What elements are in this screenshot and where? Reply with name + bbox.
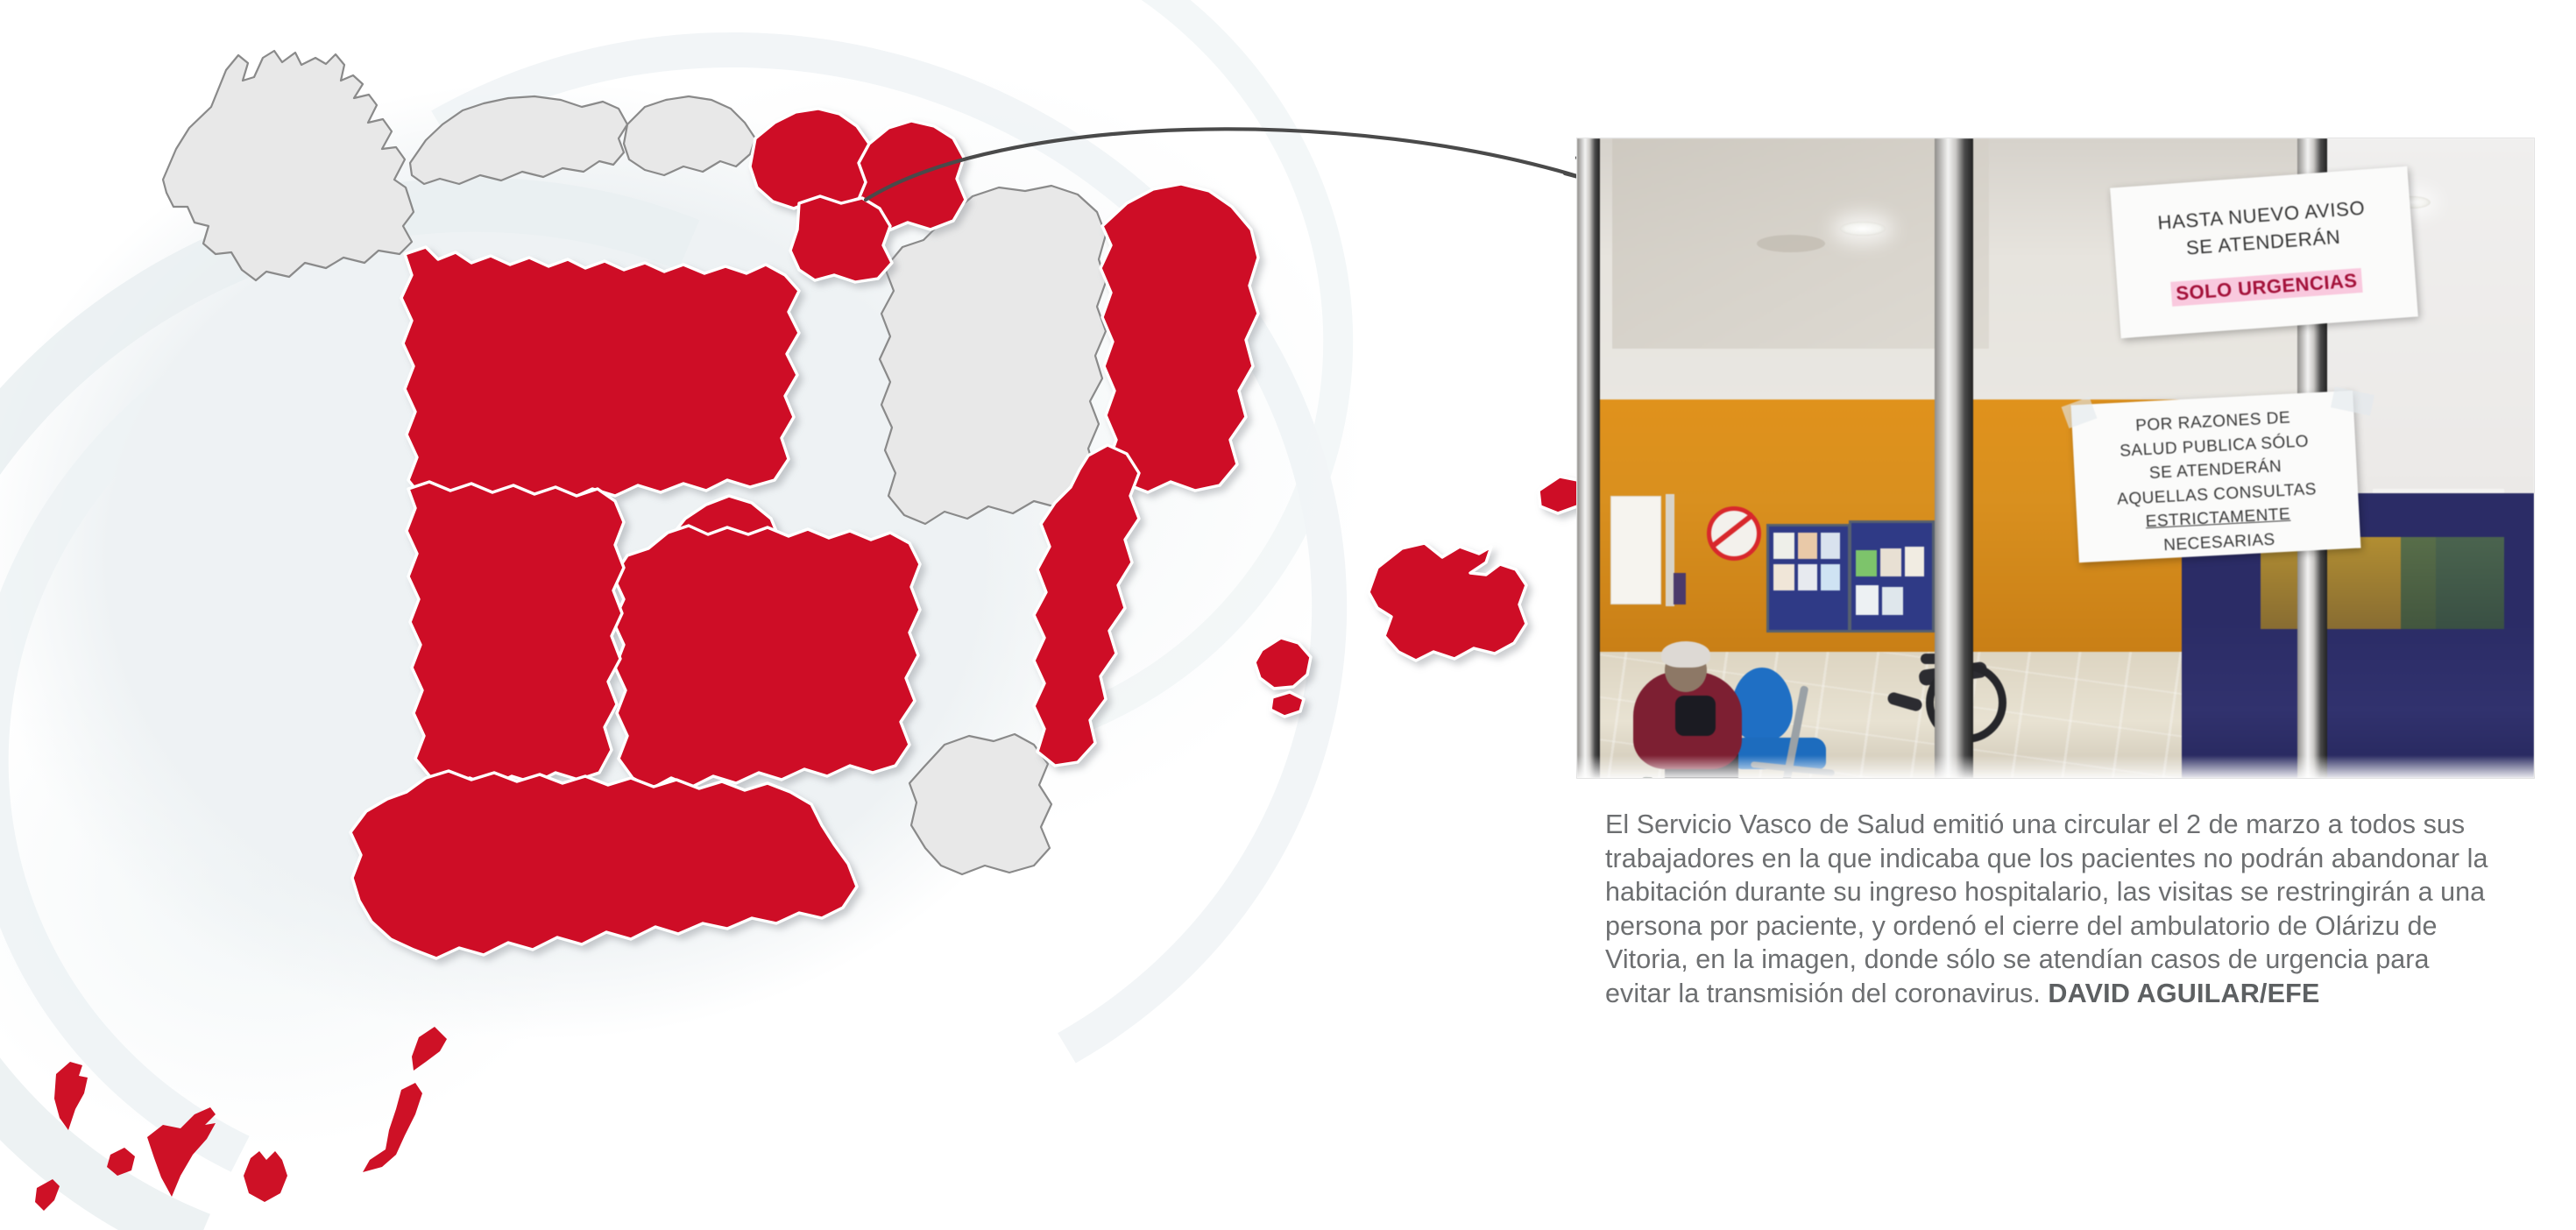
region-pais-vasco[interactable] [750, 109, 873, 209]
leaflet [1773, 564, 1794, 590]
photo-caption: El Servicio Vasco de Salud emitió una ci… [1605, 808, 2490, 1010]
island-mallorca[interactable] [1369, 543, 1526, 661]
sign-por-razones-de-salud-publica: POR RAZONES DE SALUD PUBLICA SÓLO SE ATE… [2071, 391, 2361, 563]
no-smoking-icon [1707, 506, 1761, 561]
region-extremadura[interactable] [407, 482, 624, 788]
island-fuerteventura[interactable] [363, 1083, 422, 1172]
ceiling-light-icon [1840, 222, 1886, 236]
sign1-highlight: SOLO URGENCIAS [2170, 268, 2362, 307]
infographic-page: HASTA NUEVO AVISO SE ATENDERÁN SOLO URGE… [0, 0, 2576, 1230]
region-galicia[interactable] [163, 51, 414, 280]
arrow-curve [866, 129, 1577, 200]
photo-scene: HASTA NUEVO AVISO SE ATENDERÁN SOLO URGE… [1577, 138, 2534, 778]
island-el-hierro[interactable] [35, 1179, 60, 1211]
leaflet [1856, 585, 1879, 615]
caption-text: El Servicio Vasco de Salud emitió una ci… [1605, 809, 2488, 1008]
arrow-head [1565, 158, 1577, 180]
ceiling-vent [1757, 235, 1825, 252]
door-mullion-center [1935, 138, 1973, 778]
leaflet [1882, 587, 1903, 615]
leaflet [1856, 550, 1877, 576]
leaflet [1798, 564, 1817, 590]
leaflet [1905, 547, 1924, 576]
handbag [1675, 696, 1716, 736]
spain-map-panel [0, 0, 1577, 1230]
island-la-gomera[interactable] [107, 1148, 135, 1176]
region-cantabria[interactable] [624, 96, 755, 175]
caption-credit: DAVID AGUILAR/EFE [2048, 979, 2319, 1008]
photo-bottom-fade [1577, 755, 2534, 778]
leaflet [1773, 533, 1794, 559]
region-asturias[interactable] [410, 96, 627, 184]
green-reflection [2401, 537, 2504, 629]
wall-poster [1610, 496, 1661, 604]
seated-person-hair [1661, 641, 1710, 668]
region-castilla-y-leon[interactable] [401, 247, 799, 508]
island-ibiza[interactable] [1255, 638, 1311, 689]
region-murcia[interactable] [909, 734, 1051, 874]
island-formentera[interactable] [1270, 692, 1304, 717]
map-canary-islands [35, 1027, 447, 1211]
island-tenerife[interactable] [147, 1107, 216, 1197]
region-andalucia[interactable] [350, 771, 857, 958]
curved-arrow-to-photo [859, 96, 1577, 237]
leaflet [1821, 564, 1840, 590]
navy-wall-band-lower [2182, 616, 2534, 778]
wall-leaflet-card [1674, 573, 1686, 604]
region-castilla-la-mancha[interactable] [613, 526, 920, 788]
island-la-palma[interactable] [54, 1062, 88, 1130]
leaflet [1798, 533, 1817, 559]
island-menorca[interactable] [1539, 477, 1577, 513]
island-lanzarote[interactable] [412, 1027, 447, 1071]
sign-hasta-nuevo-aviso: HASTA NUEVO AVISO SE ATENDERÁN SOLO URGE… [2110, 166, 2418, 338]
leaflet [1880, 548, 1901, 576]
leaflet [1821, 533, 1840, 559]
health-centre-photo: HASTA NUEVO AVISO SE ATENDERÁN SOLO URGE… [1577, 138, 2534, 778]
leaflet-board-right [1849, 520, 1935, 633]
door-mullion-left [1577, 138, 1600, 778]
island-gran-canaria[interactable] [244, 1151, 287, 1202]
